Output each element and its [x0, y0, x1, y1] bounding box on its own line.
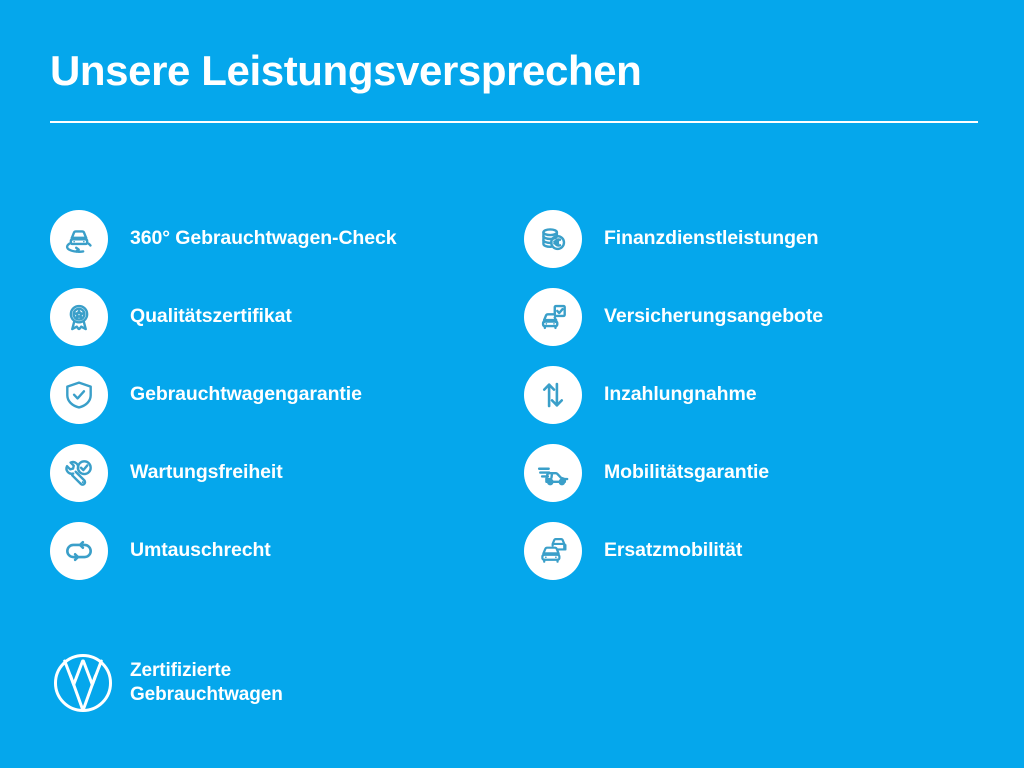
feature-label: Qualitätszertifikat — [130, 305, 292, 328]
brand-text-line1: Zertifizierte — [130, 659, 283, 683]
award-rosette-star-icon — [50, 288, 108, 346]
feature-label: Inzahlungnahme — [604, 383, 756, 406]
volkswagen-logo-icon — [52, 652, 114, 714]
header: Unsere Leistungsversprechen — [50, 48, 978, 123]
feature-item-inzahlungnahme: Inzahlungnahme — [524, 356, 978, 434]
title-divider — [50, 121, 978, 123]
brand-lockup: Zertifizierte Gebrauchtwagen — [52, 652, 283, 714]
car-360-check-icon — [50, 210, 108, 268]
feature-item-gebrauchtwagengarantie: Gebrauchtwagengarantie — [50, 356, 524, 434]
feature-label: Gebrauchtwagengarantie — [130, 383, 362, 406]
feature-label: Versicherungsangebote — [604, 305, 823, 328]
feature-item-wartungsfreiheit: Wartungsfreiheit — [50, 434, 524, 512]
car-checkbox-icon — [524, 288, 582, 346]
slide-root: Unsere Leistungsversprechen 360° Gebrauc… — [0, 0, 1024, 768]
feature-label: Wartungsfreiheit — [130, 461, 283, 484]
feature-label: Mobilitätsgarantie — [604, 461, 769, 484]
exchange-arrows-icon — [50, 522, 108, 580]
feature-item-360-check: 360° Gebrauchtwagen-Check — [50, 200, 524, 278]
feature-item-qualitaetszertifikat: Qualitätszertifikat — [50, 278, 524, 356]
coins-euro-icon — [524, 210, 582, 268]
feature-item-ersatzmobilitaet: Ersatzmobilität — [524, 512, 978, 590]
feature-label: Finanzdienstleistungen — [604, 227, 818, 250]
brand-text: Zertifizierte Gebrauchtwagen — [130, 659, 283, 707]
arrows-up-down-icon — [524, 366, 582, 424]
feature-label: Ersatzmobilität — [604, 539, 742, 562]
feature-item-finanzdienstleistungen: Finanzdienstleistungen — [524, 200, 978, 278]
two-cars-icon — [524, 522, 582, 580]
car-speed-lines-icon — [524, 444, 582, 502]
wrench-check-icon — [50, 444, 108, 502]
page-title: Unsere Leistungsversprechen — [50, 48, 978, 94]
feature-item-mobilitaetsgarantie: Mobilitätsgarantie — [524, 434, 978, 512]
feature-grid: 360° Gebrauchtwagen-Check Finanzdienstle… — [50, 200, 978, 590]
feature-item-umtauschrecht: Umtauschrecht — [50, 512, 524, 590]
feature-label: Umtauschrecht — [130, 539, 271, 562]
brand-text-line2: Gebrauchtwagen — [130, 683, 283, 707]
feature-label: 360° Gebrauchtwagen-Check — [130, 227, 396, 250]
shield-check-icon — [50, 366, 108, 424]
feature-item-versicherungsangebote: Versicherungsangebote — [524, 278, 978, 356]
